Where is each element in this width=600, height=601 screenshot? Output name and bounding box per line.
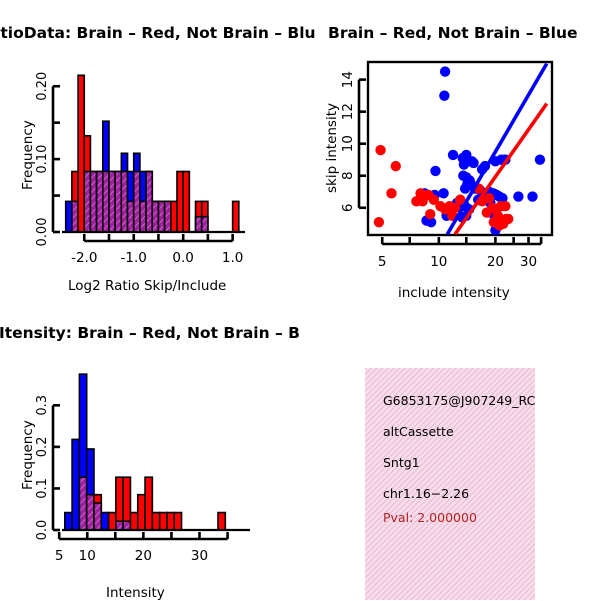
scatter-point xyxy=(527,191,537,201)
hist_intensity-axes: 0.00.10.20.35102030 xyxy=(35,395,250,564)
y-tick-label: 8 xyxy=(340,171,356,180)
scatter-point xyxy=(468,158,478,168)
y-tick-label: 0.0 xyxy=(35,520,50,541)
scatter-content xyxy=(374,64,547,236)
scatter-xlabel: include intensity xyxy=(398,285,510,301)
panel-histogram-intensity: ne Itensity: Brain – Red, Not Brain – B … xyxy=(0,300,300,600)
y-tick-label: 6 xyxy=(340,203,356,212)
x-tick-label: 5 xyxy=(55,548,64,564)
hist-intensity-plot-area: 0.00.10.20.35102030 xyxy=(0,300,300,600)
histogram-bar xyxy=(167,513,174,530)
histogram-bar xyxy=(138,495,145,530)
scatter-point xyxy=(430,166,440,176)
histogram-bar xyxy=(171,201,177,232)
scatter-point xyxy=(459,159,469,169)
scatter-ylabel: skip intensity xyxy=(324,103,340,193)
scatter-point xyxy=(484,193,494,203)
x-tick-label: 20 xyxy=(135,548,152,564)
scatter-point xyxy=(391,161,401,171)
histogram-bar xyxy=(160,513,167,530)
info-panel: G6853175@J907249_RC altCassette Sntg1 ch… xyxy=(365,368,535,600)
histogram-bar xyxy=(72,439,79,530)
scatter-point xyxy=(535,155,545,165)
histogram-bar xyxy=(65,513,72,530)
scatter-plot-area: 681012145102030 xyxy=(300,0,600,300)
histogram-bar-overlap xyxy=(146,172,152,232)
scatter-point xyxy=(440,66,450,76)
histogram-bar xyxy=(78,75,84,232)
histogram-bar-overlap xyxy=(116,521,123,530)
y-tick-label: 0.10 xyxy=(35,145,50,174)
histogram-bar-overlap xyxy=(123,521,130,530)
y-tick-label: 0.1 xyxy=(35,478,50,499)
scatter-point xyxy=(513,191,523,201)
x-tick-label: 30 xyxy=(191,548,208,564)
x-tick-label: -1.0 xyxy=(121,250,147,266)
hist_ratio-bars xyxy=(66,75,239,232)
y-tick-label: 14 xyxy=(340,71,356,88)
hist-intensity-ylabel: Frequency xyxy=(20,420,36,490)
scatter-point xyxy=(425,209,435,219)
histogram-bar-overlap xyxy=(134,172,140,232)
scatter-point xyxy=(438,188,448,198)
histogram-bar-overlap xyxy=(90,172,96,232)
histogram-bar-overlap xyxy=(140,201,146,232)
scatter-point xyxy=(374,217,384,227)
histogram-bar-overlap xyxy=(97,172,103,232)
histogram-bar-overlap xyxy=(196,217,202,232)
x-tick-label: 0.0 xyxy=(172,250,193,266)
scatter-point xyxy=(482,207,492,217)
info-line-pval: Pval: 2.000000 xyxy=(383,510,477,525)
histogram-bar-overlap xyxy=(158,201,164,232)
histogram-bar xyxy=(109,513,116,530)
x-tick-label: 5 xyxy=(378,254,387,270)
scatter-point xyxy=(448,150,458,160)
scatter-point xyxy=(439,90,449,100)
hist_intensity-bars xyxy=(65,374,226,530)
scatter-point xyxy=(423,190,433,200)
scatter-point xyxy=(386,188,396,198)
x-tick-label: 30 xyxy=(520,254,537,270)
y-tick-label: 0.20 xyxy=(35,72,50,101)
y-tick-label: 0.3 xyxy=(35,395,50,416)
panel-histogram-ratio: RatioData: Brain – Red, Not Brain – Blu … xyxy=(0,0,300,300)
histogram-bar-overlap xyxy=(79,477,86,530)
x-tick-label: 10 xyxy=(430,254,447,270)
x-tick-label: -2.0 xyxy=(71,250,97,266)
histogram-bar-overlap xyxy=(72,201,78,232)
histogram-bar-overlap xyxy=(121,172,127,232)
scatter-point xyxy=(500,201,510,211)
histogram-bar xyxy=(101,513,108,530)
histogram-bar-overlap xyxy=(87,495,94,530)
histogram-bar-overlap xyxy=(103,172,109,232)
x-tick-label: 20 xyxy=(487,254,504,270)
histogram-bar-overlap xyxy=(84,172,90,232)
histogram-bar xyxy=(145,477,152,530)
scatter-point xyxy=(501,214,511,224)
histogram-bar-overlap xyxy=(165,201,171,232)
hist-intensity-xlabel: Intensity xyxy=(106,585,165,601)
info-line-locus: chr1.16−2.26 xyxy=(383,486,469,501)
histogram-bar xyxy=(177,172,183,232)
histogram-bar-overlap xyxy=(94,503,101,530)
info-line-gene: Sntg1 xyxy=(383,455,420,470)
info-line-id: G6853175@J907249_RC xyxy=(383,393,535,408)
histogram-bar-overlap xyxy=(128,201,134,232)
scatter-point xyxy=(440,204,450,214)
info-line-event-type: altCassette xyxy=(383,424,454,439)
x-tick-label: 10 xyxy=(79,548,96,564)
y-tick-label: 10 xyxy=(340,135,356,152)
hist-ratio-ylabel: Frequency xyxy=(20,120,36,190)
histogram-bar xyxy=(174,513,181,530)
histogram-bar-overlap xyxy=(152,201,158,232)
y-tick-label: 0.00 xyxy=(35,218,50,247)
histogram-bar xyxy=(218,513,225,530)
histogram-bar xyxy=(233,201,239,232)
y-tick-label: 0.2 xyxy=(35,437,50,458)
hist-ratio-xlabel: Log2 Ratio Skip/Include xyxy=(68,278,226,294)
histogram-bar xyxy=(152,513,159,530)
histogram-bar-overlap xyxy=(202,217,208,232)
panel-scatter: Brain – Red, Not Brain – Blue 6810121451… xyxy=(300,0,600,300)
x-tick-label: 1.0 xyxy=(222,250,243,266)
histogram-bar xyxy=(183,172,189,232)
histogram-bar-overlap xyxy=(109,172,115,232)
y-tick-label: 12 xyxy=(340,103,356,120)
histogram-bar xyxy=(66,201,72,232)
scatter-point xyxy=(375,145,385,155)
histogram-bar-overlap xyxy=(115,172,121,232)
histogram-bar xyxy=(130,513,137,530)
scatter-point xyxy=(460,183,470,193)
hist-ratio-plot-area: 0.000.100.20-2.0-1.00.01.0 xyxy=(0,0,300,300)
